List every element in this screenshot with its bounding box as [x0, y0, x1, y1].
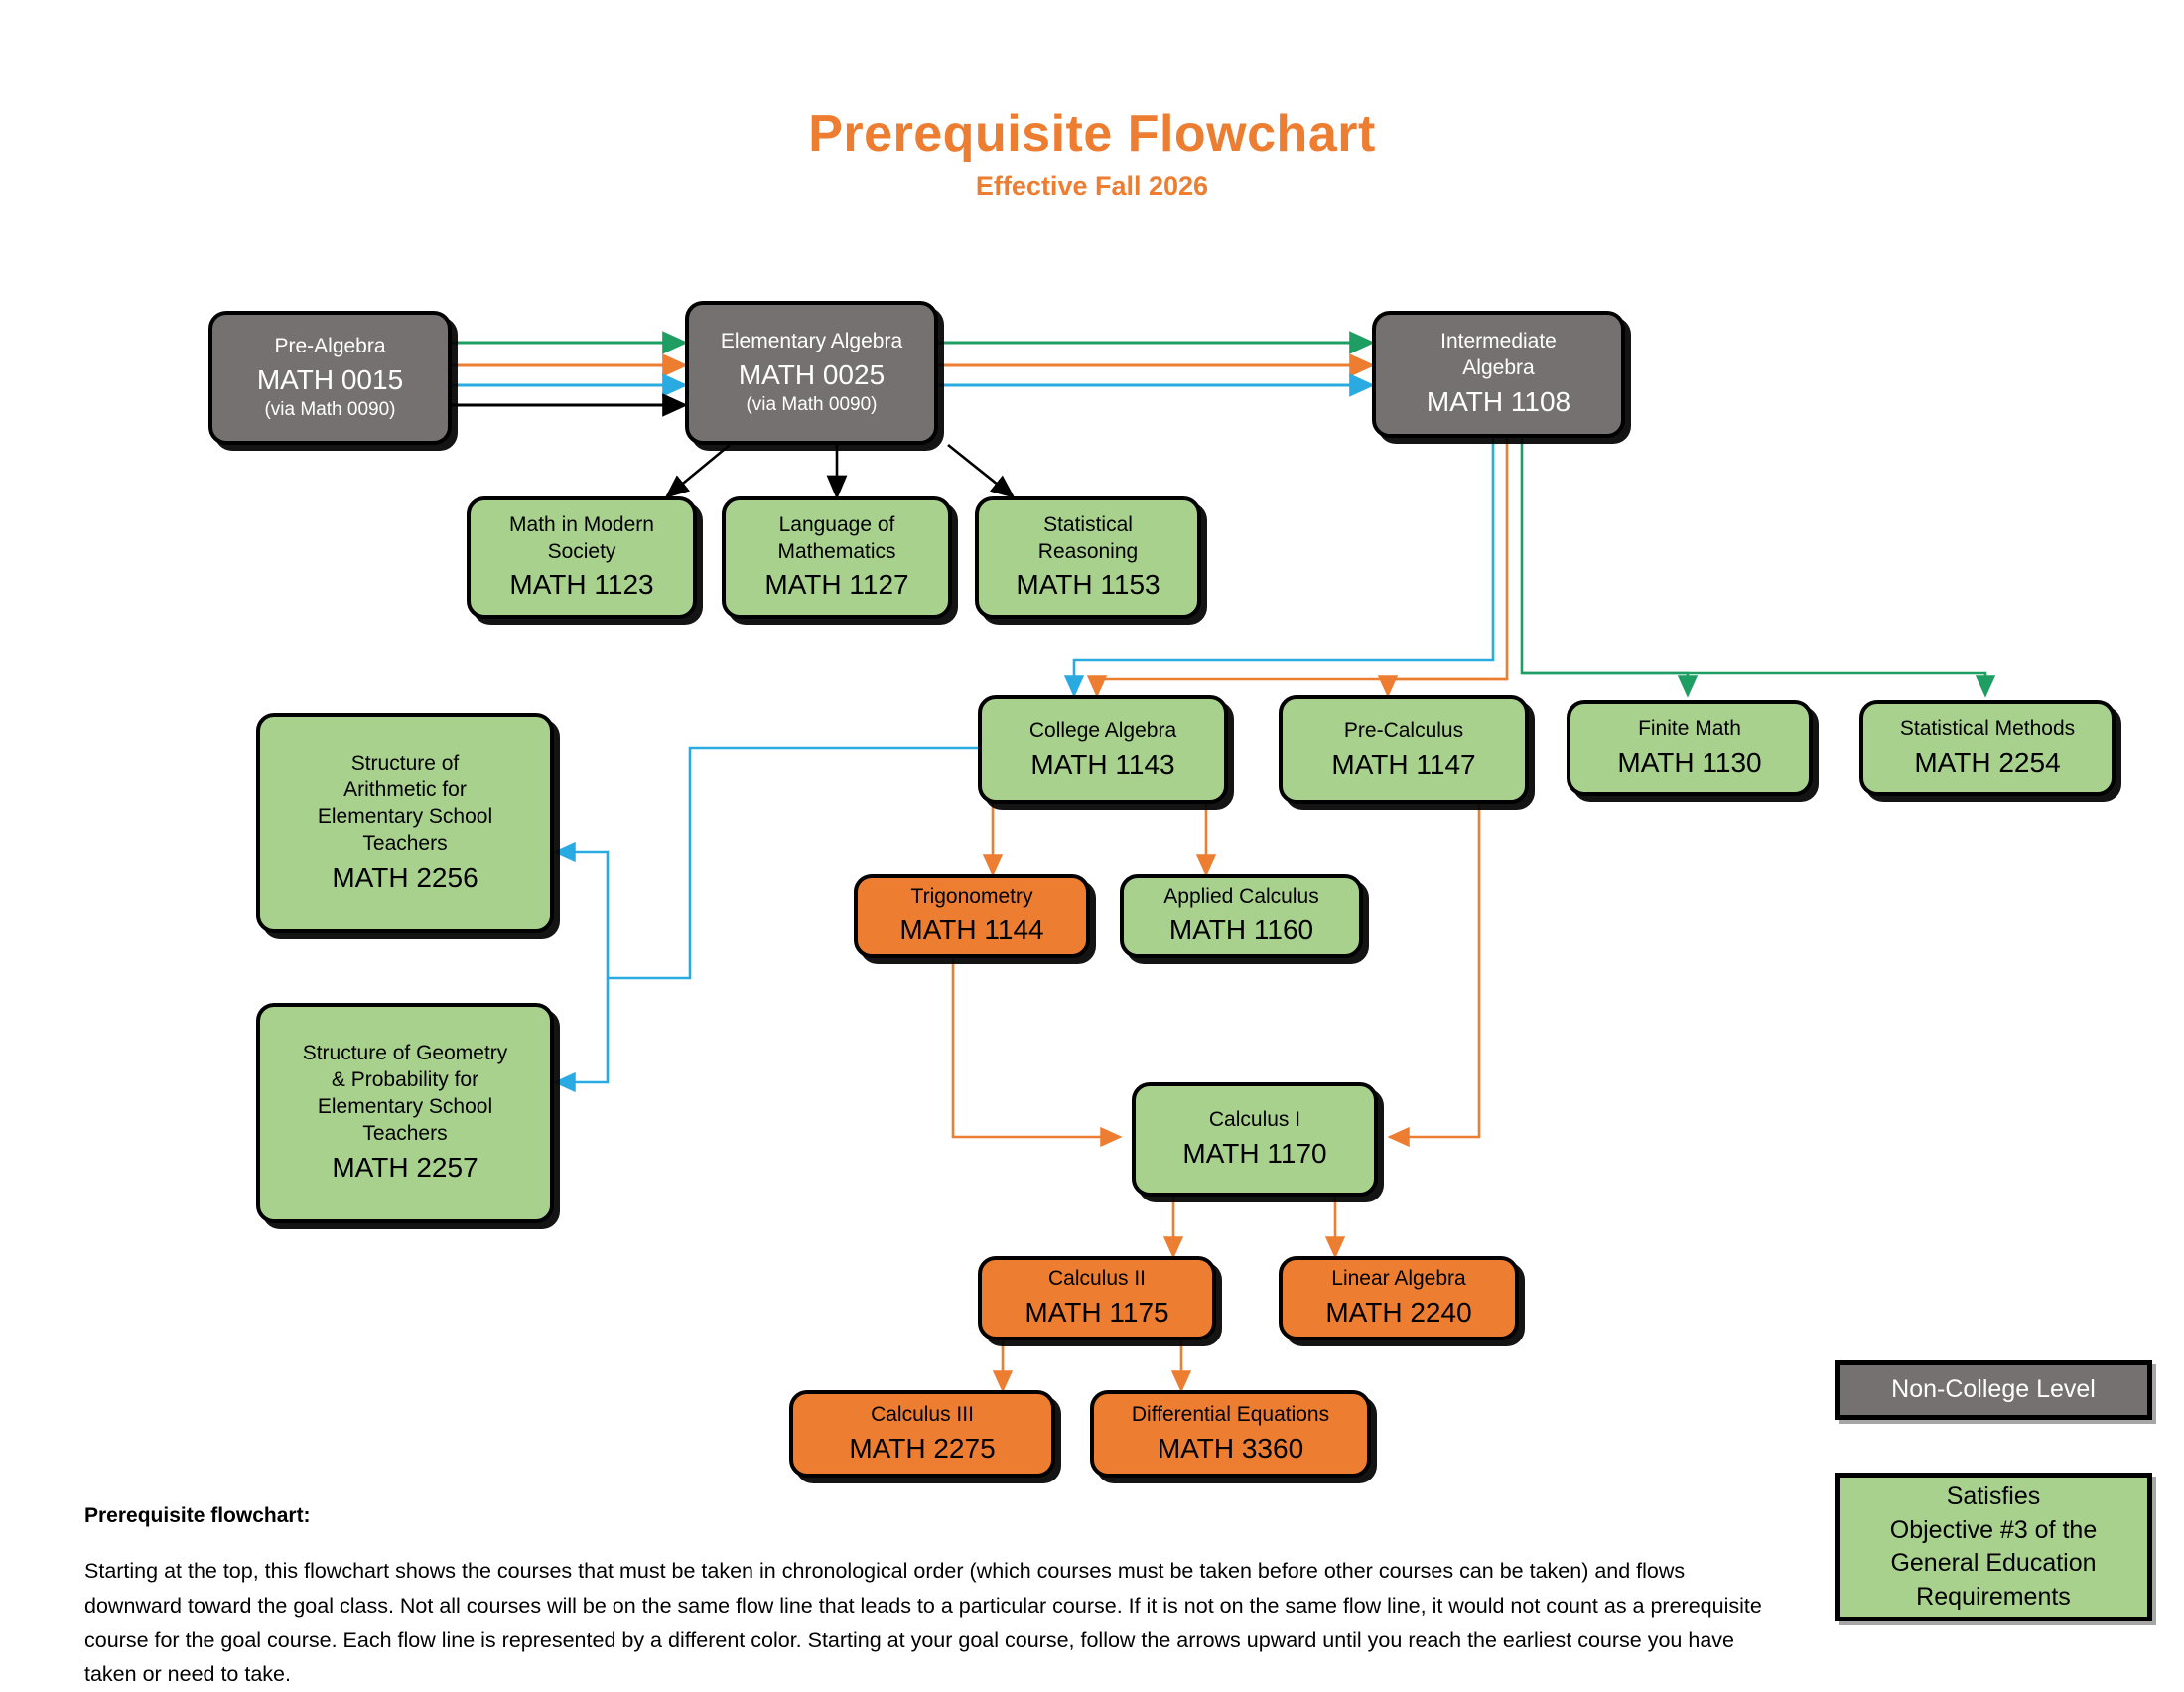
node-calculus-1[interactable]: Calculus I MATH 1170: [1132, 1082, 1378, 1197]
node-linear-algebra[interactable]: Linear Algebra MATH 2240: [1279, 1256, 1519, 1340]
node-code: MATH 0015: [257, 362, 403, 398]
node-code: MATH 2275: [849, 1431, 995, 1467]
node-pre-algebra[interactable]: Pre-Algebra MATH 0015 (via Math 0090): [208, 311, 452, 445]
node-title-2: Mathematics: [777, 539, 895, 566]
footer-body: Starting at the top, this flowchart show…: [84, 1554, 1772, 1692]
node-statistical-reasoning[interactable]: Statistical Reasoning MATH 1153: [975, 496, 1201, 619]
node-code: MATH 1130: [1617, 745, 1761, 780]
node-title: Calculus II: [1048, 1266, 1146, 1293]
node-title: Structure of: [351, 751, 460, 777]
node-elementary-algebra[interactable]: Elementary Algebra MATH 0025 (via Math 0…: [685, 301, 938, 445]
node-subnote: (via Math 0090): [746, 393, 877, 417]
node-subnote: (via Math 0090): [264, 398, 395, 422]
edge-intalg-precalculus-orange: [1388, 679, 1507, 695]
node-intermediate-algebra[interactable]: Intermediate Algebra MATH 1108: [1372, 311, 1625, 438]
node-code: MATH 1147: [1331, 747, 1475, 782]
node-title: Trigonometry: [911, 884, 1033, 911]
node-code: MATH 1160: [1169, 913, 1313, 948]
legend-line-1: Satisfies: [1947, 1480, 2040, 1514]
node-title-2: Reasoning: [1038, 539, 1138, 566]
edge-elemalg-modernsociety: [667, 445, 730, 496]
edge-elemalg-statreasoning: [948, 445, 1013, 496]
node-pre-calculus[interactable]: Pre-Calculus MATH 1147: [1279, 695, 1529, 804]
node-title: Differential Equations: [1132, 1402, 1329, 1429]
node-title: Math in Modern: [509, 512, 654, 539]
page-subtitle: Effective Fall 2026: [0, 171, 2184, 202]
node-title: Calculus I: [1209, 1107, 1300, 1134]
node-structure-of-arithmetic[interactable]: Structure of Arithmetic for Elementary S…: [256, 713, 554, 933]
node-title-2: Algebra: [1462, 355, 1534, 382]
node-title-4: Teachers: [362, 1121, 447, 1148]
node-title: Pre-Algebra: [274, 334, 385, 360]
node-title: Language of: [779, 512, 895, 539]
node-code: MATH 1108: [1427, 384, 1570, 420]
edge-intalg-finitemath-green: [1522, 437, 1688, 695]
node-title: Structure of Geometry: [303, 1041, 508, 1067]
node-language-of-mathematics[interactable]: Language of Mathematics MATH 1127: [722, 496, 952, 619]
legend-gen-ed-objective: Satisfies Objective #3 of the General Ed…: [1835, 1473, 2152, 1621]
node-title: Statistical Methods: [1900, 716, 2075, 743]
node-code: MATH 1175: [1024, 1295, 1168, 1331]
node-title: Statistical: [1043, 512, 1133, 539]
node-code: MATH 1127: [764, 567, 908, 603]
node-calculus-3[interactable]: Calculus III MATH 2275: [789, 1390, 1055, 1478]
node-code: MATH 1144: [899, 913, 1043, 948]
node-title: Finite Math: [1638, 716, 1741, 743]
node-college-algebra[interactable]: College Algebra MATH 1143: [978, 695, 1228, 804]
node-title: Linear Algebra: [1331, 1266, 1465, 1293]
flowchart-canvas: Prerequisite Flowchart Effective Fall 20…: [0, 0, 2184, 1688]
legend-label: Non-College Level: [1891, 1373, 2096, 1407]
node-calculus-2[interactable]: Calculus II MATH 1175: [978, 1256, 1216, 1340]
node-code: MATH 1153: [1016, 567, 1160, 603]
node-code: MATH 2254: [1914, 745, 2060, 780]
node-title: Elementary Algebra: [721, 329, 902, 355]
node-math-in-modern-society[interactable]: Math in Modern Society MATH 1123: [467, 496, 697, 619]
node-finite-math[interactable]: Finite Math MATH 1130: [1567, 700, 1813, 796]
node-code: MATH 2240: [1325, 1295, 1471, 1331]
node-code: MATH 2256: [332, 860, 478, 896]
edge-trigonometry-calculus1: [953, 958, 1120, 1137]
node-title: Calculus III: [871, 1402, 974, 1429]
node-title-4: Teachers: [362, 831, 447, 858]
edge-intalg-statmethods-green: [1522, 673, 1985, 695]
node-title-2: & Probability for: [332, 1067, 478, 1094]
node-code: MATH 1143: [1030, 747, 1174, 782]
node-title-3: Elementary School: [318, 804, 492, 831]
node-code: MATH 3360: [1158, 1431, 1303, 1467]
node-trigonometry[interactable]: Trigonometry MATH 1144: [854, 874, 1090, 958]
node-code: MATH 0025: [739, 357, 885, 393]
footer-heading: Prerequisite flowchart:: [84, 1504, 311, 1528]
node-differential-equations[interactable]: Differential Equations MATH 3360: [1090, 1390, 1371, 1478]
legend-line-2: Objective #3 of the: [1890, 1514, 2097, 1548]
node-title: College Algebra: [1029, 718, 1176, 745]
legend-line-3: General Education: [1890, 1547, 2096, 1581]
legend-non-college-level: Non-College Level: [1835, 1360, 2152, 1420]
legend-line-4: Requirements: [1916, 1581, 2071, 1615]
edge-collegealgebra-structuregeometry: [556, 978, 608, 1082]
node-applied-calculus[interactable]: Applied Calculus MATH 1160: [1120, 874, 1363, 958]
node-title: Intermediate: [1440, 329, 1557, 355]
node-title: Pre-Calculus: [1344, 718, 1463, 745]
edge-precalculus-calculus1: [1390, 804, 1479, 1137]
node-code: MATH 1123: [509, 567, 653, 603]
node-code: MATH 2257: [332, 1150, 478, 1186]
node-title-2: Society: [548, 539, 616, 566]
node-title: Applied Calculus: [1163, 884, 1318, 911]
node-code: MATH 1170: [1182, 1136, 1326, 1172]
node-title-2: Arithmetic for: [343, 777, 467, 804]
node-title-3: Elementary School: [318, 1094, 492, 1121]
node-structure-of-geometry[interactable]: Structure of Geometry & Probability for …: [256, 1003, 554, 1223]
page-title: Prerequisite Flowchart: [0, 104, 2184, 164]
node-statistical-methods[interactable]: Statistical Methods MATH 2254: [1859, 700, 2116, 796]
